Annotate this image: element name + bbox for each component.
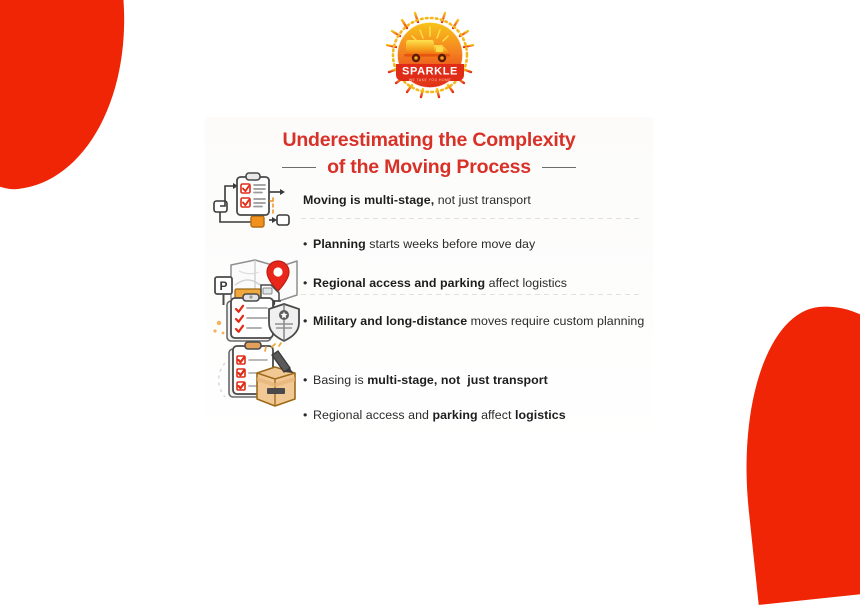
list-item-text: •Regional access and parking affect logi… bbox=[303, 276, 567, 290]
list-item-bold-lead: Regional access and parking bbox=[313, 276, 485, 290]
page-title-line1: Underestimating the Complexity bbox=[205, 128, 653, 154]
title-rule-right bbox=[542, 167, 576, 168]
decorative-red-shape-top-left bbox=[0, 0, 142, 198]
list-item-bold-tail-2: logistics bbox=[515, 408, 566, 422]
page-title-line2: of the Moving Process bbox=[327, 155, 531, 181]
list-item: •Basing is multi-stage, not just transpo… bbox=[205, 361, 653, 399]
list-item-bold-lead: Moving is multi-stage, bbox=[303, 193, 434, 207]
list-item-text: •Basing is multi-stage, not just transpo… bbox=[303, 373, 548, 387]
list-item: •Military and long-distance moves requir… bbox=[205, 302, 653, 340]
list-item: •Regional access and parking affect logi… bbox=[205, 396, 653, 434]
list-item-bold-lead: Military and long-distance bbox=[313, 314, 467, 328]
list-item-text: •Military and long-distance moves requir… bbox=[303, 314, 644, 328]
sparkle-moving-truck-badge-icon: SPARKLE WE TAKE YOU HOME bbox=[384, 9, 476, 101]
bullet-dot: • bbox=[303, 408, 313, 422]
list-item-bold-tail: parking bbox=[432, 408, 477, 422]
list-item-bold-tail: multi-stage, not just transport bbox=[367, 373, 548, 387]
content-card: Underestimating the Complexity of the Mo… bbox=[205, 117, 653, 447]
logo-wordmark: SPARKLE bbox=[402, 66, 458, 78]
list-item-rest: Regional access and bbox=[313, 408, 432, 422]
sparkle-logo: SPARKLE WE TAKE YOU HOME bbox=[384, 9, 476, 101]
decorative-red-shape-bottom-right bbox=[728, 295, 860, 605]
list-item: Moving is multi-stage, not just transpor… bbox=[205, 181, 653, 219]
list-item-rest: not just transport bbox=[434, 193, 531, 207]
list-item-rest: affect logistics bbox=[485, 276, 567, 290]
bullet-dot: • bbox=[303, 237, 313, 251]
list-item-text: Moving is multi-stage, not just transpor… bbox=[303, 193, 531, 207]
list-item-rest: starts weeks before move day bbox=[366, 237, 536, 251]
title-rule-left bbox=[282, 167, 316, 168]
list-item-rest: moves require custom planning bbox=[467, 314, 644, 328]
list-item-text: •Planning starts weeks before move day bbox=[303, 237, 535, 251]
clipboard-flowchart-icon bbox=[209, 170, 305, 230]
logo-tagline: WE TAKE YOU HOME bbox=[409, 78, 452, 82]
list-item-bold-lead: Planning bbox=[313, 237, 366, 251]
list-item-rest: Basing is bbox=[313, 373, 367, 387]
row-divider bbox=[301, 294, 639, 295]
row-divider bbox=[301, 218, 639, 219]
list-item-rest-2: affect bbox=[478, 408, 515, 422]
svg-text:P: P bbox=[219, 279, 227, 293]
list-item-text: •Regional access and parking affect logi… bbox=[303, 408, 566, 422]
